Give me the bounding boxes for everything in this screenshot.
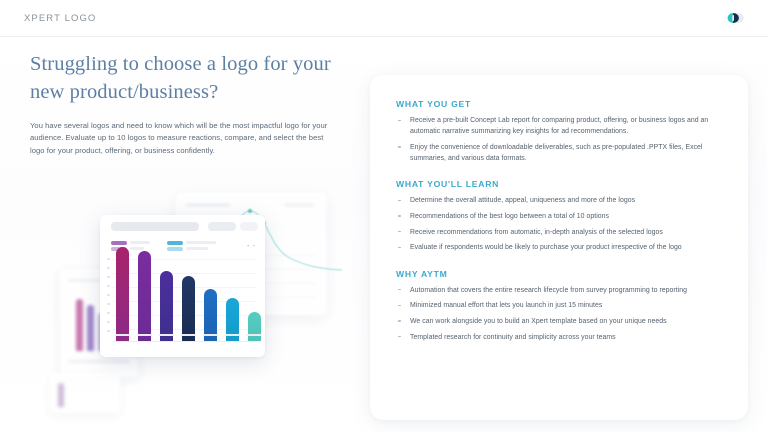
- list-item: Evaluate if respondents would be likely …: [396, 242, 724, 253]
- bullet-list: Determine the overall attitude, appeal, …: [396, 195, 724, 253]
- section-what-you-get: WHAT YOU GET Receive a pre-built Concept…: [396, 99, 724, 164]
- bar-1: [116, 247, 129, 341]
- app-header: XPERT LOGO: [0, 0, 768, 37]
- list-item: Receive recommendations from automatic, …: [396, 227, 724, 238]
- left-column: Struggling to choose a logo for your new…: [30, 50, 360, 158]
- bullet-list: Automation that covers the entire resear…: [396, 285, 724, 343]
- chart-card-header: [100, 215, 265, 237]
- bar-7: [248, 312, 261, 341]
- section-title: WHAT YOU GET: [396, 99, 724, 109]
- chart-card: • •: [100, 215, 265, 357]
- list-item: Minimized manual effort that lets you la…: [396, 300, 724, 311]
- section-title: WHY AYTM: [396, 269, 724, 279]
- bar-4: [182, 276, 195, 341]
- list-item: Recommendations of the best logo between…: [396, 211, 724, 222]
- page-body: Struggling to choose a logo for your new…: [0, 37, 768, 432]
- bar-3: [160, 271, 173, 341]
- section-why-aytm: WHY AYTM Automation that covers the enti…: [396, 269, 724, 343]
- bar-2: [138, 251, 151, 341]
- bullet-list: Receive a pre-built Concept Lab report f…: [396, 115, 724, 164]
- list-item: Enjoy the convenience of downloadable de…: [396, 142, 724, 164]
- ghost-mini-card-bottom: [50, 373, 120, 413]
- section-title: WHAT YOU'LL LEARN: [396, 179, 724, 189]
- list-item: Templated research for continuity and si…: [396, 332, 724, 343]
- benefits-panel: WHAT YOU GET Receive a pre-built Concept…: [370, 75, 748, 420]
- dashboard-illustration: • •: [14, 187, 359, 422]
- section-what-youll-learn: WHAT YOU'LL LEARN Determine the overall …: [396, 179, 724, 253]
- page-description: You have several logos and need to know …: [30, 120, 338, 158]
- brand-label: XPERT LOGO: [24, 13, 96, 24]
- list-item: Receive a pre-built Concept Lab report f…: [396, 115, 724, 137]
- list-item: We can work alongside you to build an Xp…: [396, 316, 724, 327]
- chart-bars: [114, 243, 257, 341]
- list-item: Determine the overall attitude, appeal, …: [396, 195, 724, 206]
- page-title: Struggling to choose a logo for your new…: [30, 50, 360, 107]
- aytm-logo-icon: [724, 7, 746, 29]
- list-item: Automation that covers the entire resear…: [396, 285, 724, 296]
